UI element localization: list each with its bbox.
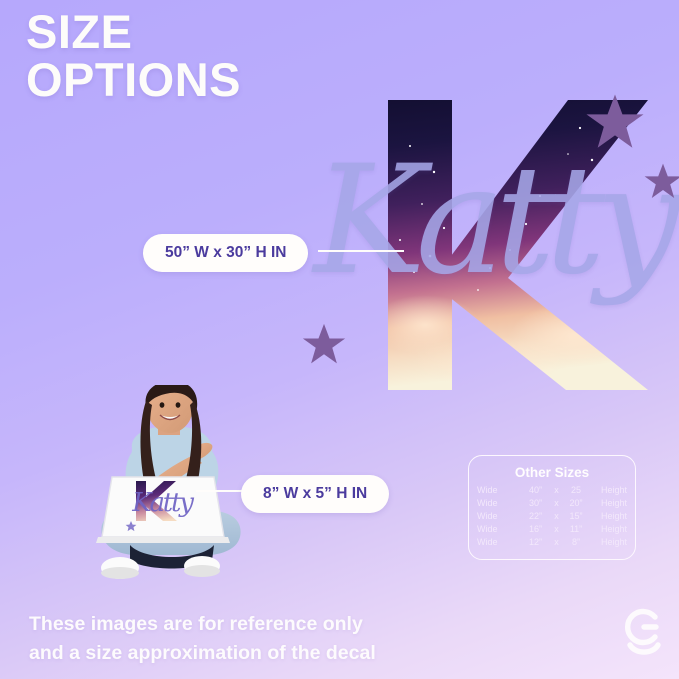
row-width-value: 16” bbox=[522, 522, 549, 535]
row-height-label: Height bbox=[588, 497, 627, 510]
table-row: Wide 30” x 20” Height bbox=[477, 497, 627, 510]
disclaimer-line-2: and a size approximation of the decal bbox=[29, 639, 376, 668]
row-x-separator: x bbox=[549, 484, 564, 497]
row-height-label: Height bbox=[588, 535, 627, 548]
row-height-value: 15” bbox=[564, 510, 588, 523]
table-row: Wide 40” x 25 Height bbox=[477, 484, 627, 497]
row-height-label: Height bbox=[588, 510, 627, 523]
reference-photo-woman-with-laptop: Katty bbox=[84, 385, 259, 580]
disclaimer-line-1: These images are for reference only bbox=[29, 610, 376, 639]
page-title: SIZE OPTIONS bbox=[26, 8, 241, 105]
row-width-value: 40” bbox=[522, 484, 549, 497]
row-x-separator: x bbox=[549, 535, 564, 548]
other-sizes-box: Other Sizes Wide 40” x 25 Height Wide 30… bbox=[468, 455, 636, 560]
other-sizes-title: Other Sizes bbox=[477, 465, 627, 480]
star-icon-right-small bbox=[643, 162, 679, 202]
row-x-separator: x bbox=[549, 522, 564, 535]
other-sizes-table: Wide 40” x 25 Height Wide 30” x 20” Heig… bbox=[477, 484, 627, 548]
row-wide-label: Wide bbox=[477, 535, 522, 548]
row-wide-label: Wide bbox=[477, 522, 522, 535]
row-wide-label: Wide bbox=[477, 497, 522, 510]
page-title-line-1: SIZE bbox=[26, 8, 241, 56]
table-row: Wide 22” x 15” Height bbox=[477, 510, 627, 523]
connector-line-large bbox=[318, 250, 404, 252]
row-x-separator: x bbox=[549, 497, 564, 510]
star-icon-bottom-left bbox=[301, 322, 347, 368]
size-label-large: 50” W x 30” H IN bbox=[143, 234, 308, 272]
row-width-value: 12” bbox=[522, 535, 549, 548]
disclaimer-text: These images are for reference only and … bbox=[29, 610, 376, 669]
row-height-value: 11” bbox=[564, 522, 588, 535]
size-label-small: 8” W x 5” H IN bbox=[241, 475, 389, 513]
row-x-separator: x bbox=[549, 510, 564, 523]
row-wide-label: Wide bbox=[477, 484, 522, 497]
page-title-line-2: OPTIONS bbox=[26, 56, 241, 104]
svg-text:Katty: Katty bbox=[131, 488, 194, 518]
star-icon-top-right-large bbox=[584, 92, 646, 154]
row-height-value: 25 bbox=[564, 484, 588, 497]
table-row: Wide 16” x 11” Height bbox=[477, 522, 627, 535]
row-wide-label: Wide bbox=[477, 510, 522, 523]
row-height-value: 8” bbox=[564, 535, 588, 548]
table-row: Wide 12” x 8” Height bbox=[477, 535, 627, 548]
row-height-label: Height bbox=[588, 484, 627, 497]
row-height-label: Height bbox=[588, 522, 627, 535]
brand-g-logo-icon bbox=[619, 603, 669, 661]
row-width-value: 22” bbox=[522, 510, 549, 523]
row-width-value: 30” bbox=[522, 497, 549, 510]
row-height-value: 20” bbox=[564, 497, 588, 510]
